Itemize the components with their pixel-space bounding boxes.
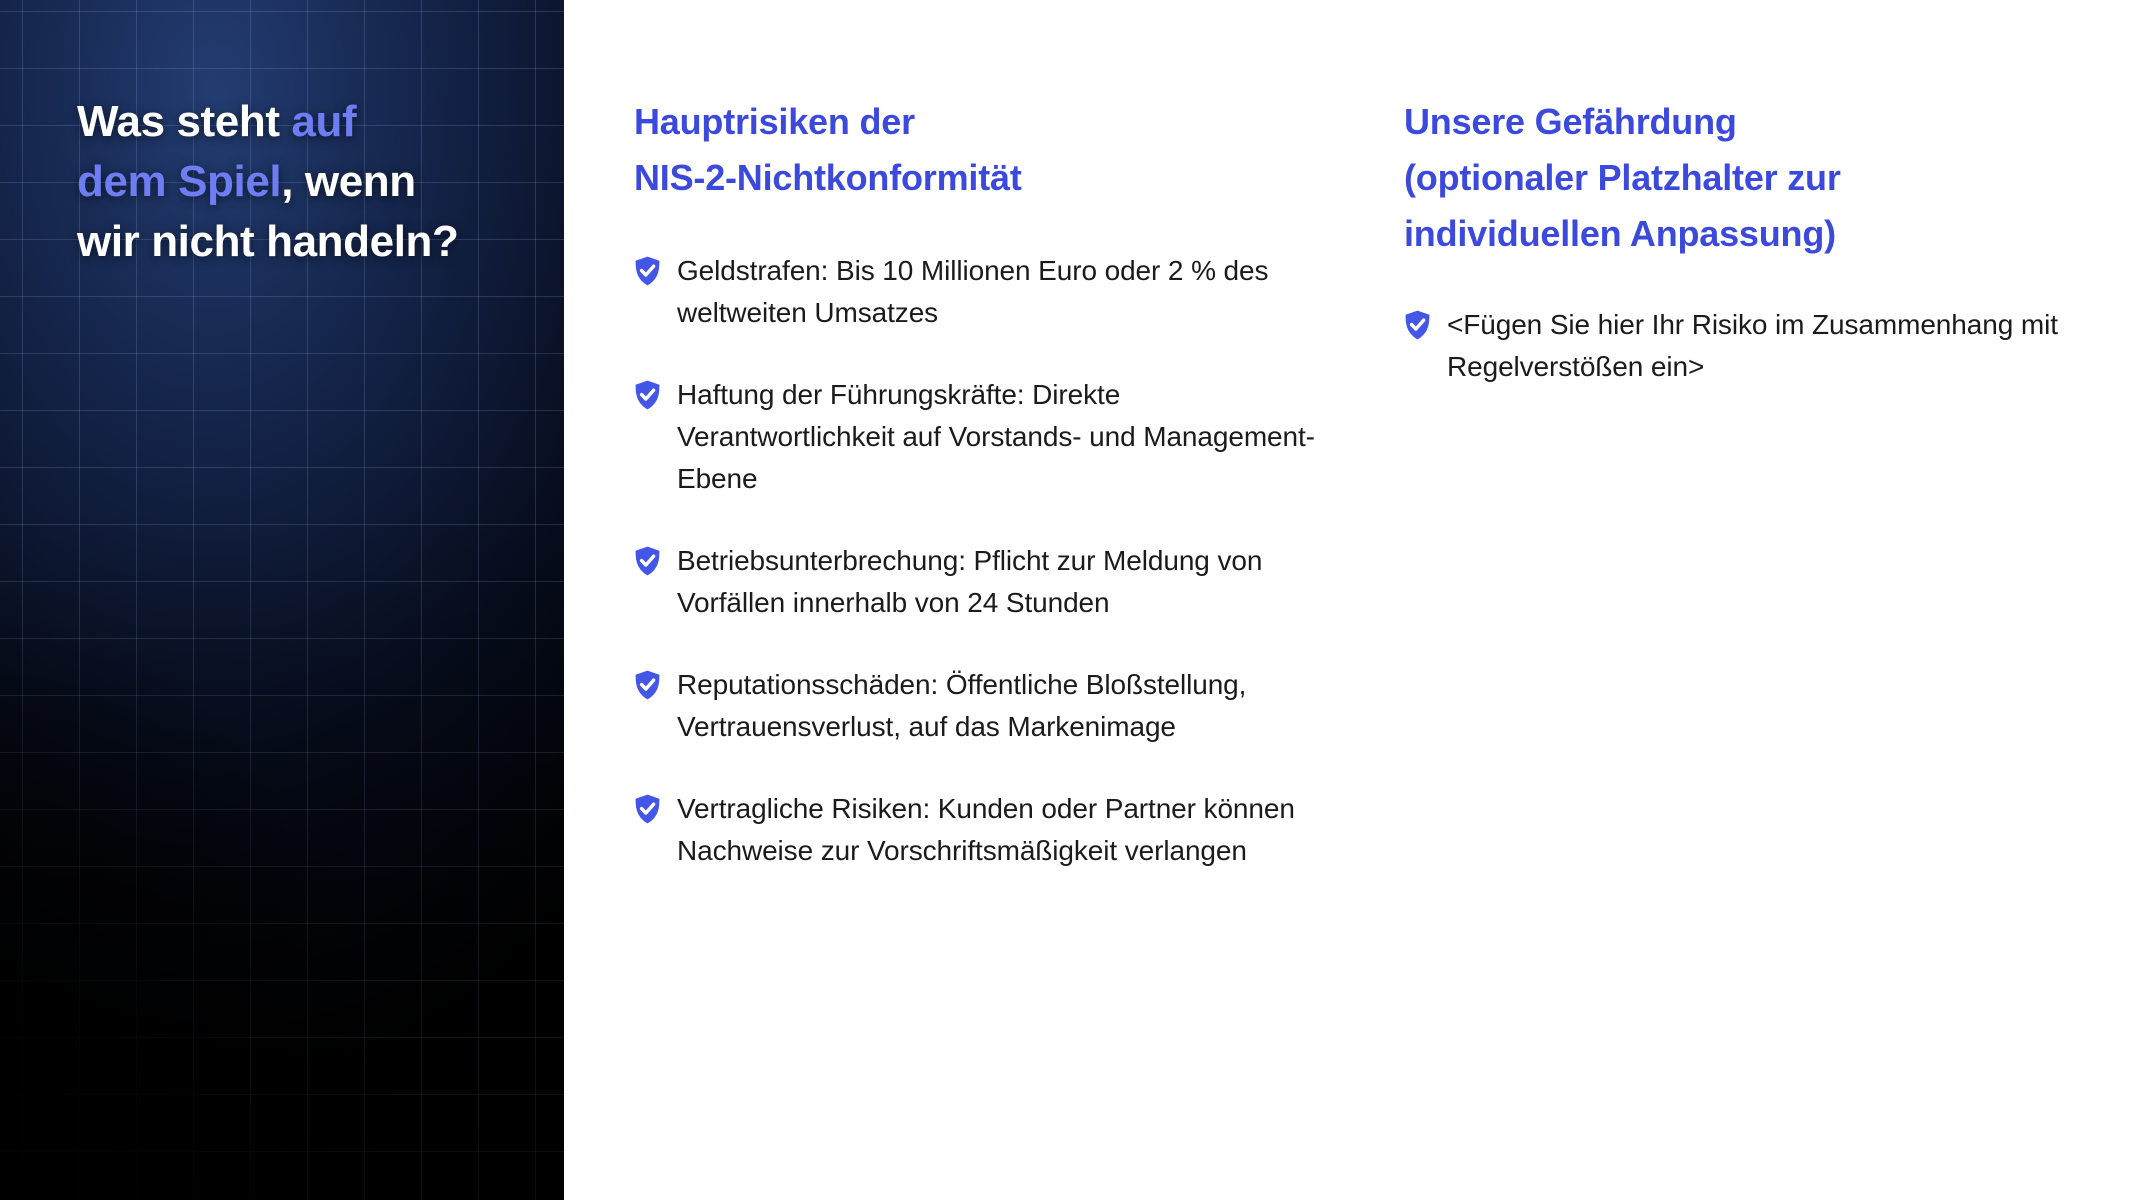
list-item-label: Haftung der Führungskräfte: Direkte Vera…	[677, 374, 1334, 500]
shield-check-icon	[634, 670, 661, 700]
risk-list: Geldstrafen: Bis 10 Millionen Euro oder …	[634, 250, 1334, 872]
exposure-list: <Fügen Sie hier Ihr Risiko im Zusammenha…	[1404, 304, 2064, 388]
list-item: Haftung der Führungskräfte: Direkte Vera…	[634, 374, 1334, 500]
column-heading-line-2: (optionaler Platzhalter zur	[1404, 157, 1841, 198]
column-main-risks: Hauptrisiken derNIS-2-Nichtkonformität G…	[634, 0, 1334, 1200]
column-heading-line-2: NIS-2-Nichtkonformität	[634, 157, 1022, 198]
list-item: Reputationsschäden: Öffentliche Bloßstel…	[634, 664, 1334, 748]
shield-check-icon	[634, 546, 661, 576]
list-item: Vertragliche Risiken: Kunden oder Partne…	[634, 788, 1334, 872]
list-item-label: Reputationsschäden: Öffentliche Bloßstel…	[677, 664, 1334, 748]
list-item: <Fügen Sie hier Ihr Risiko im Zusammenha…	[1404, 304, 2064, 388]
page-title-segment-1: Was steht	[77, 97, 291, 146]
slide: Was steht aufdem Spiel, wennwir nicht ha…	[0, 0, 2133, 1200]
page-title-highlight-2: dem Spiel	[77, 157, 281, 206]
page-title-segment-3: wir nicht handeln?	[77, 217, 458, 266]
shield-check-icon	[634, 256, 661, 286]
list-item: Geldstrafen: Bis 10 Millionen Euro oder …	[634, 250, 1334, 334]
list-item-label: Betriebsunterbrechung: Pflicht zur Meldu…	[677, 540, 1334, 624]
column-heading-line-3: individuellen Anpassung)	[1404, 213, 1836, 254]
column-heading-line-1: Hauptrisiken der	[634, 101, 915, 142]
column-heading-our-exposure: Unsere Gefährdung(optionaler Platzhalter…	[1404, 0, 2064, 262]
page-title-segment-2: , wenn	[281, 157, 416, 206]
page-title: Was steht aufdem Spiel, wennwir nicht ha…	[77, 92, 507, 272]
shield-check-icon	[634, 794, 661, 824]
list-item-label: Geldstrafen: Bis 10 Millionen Euro oder …	[677, 250, 1334, 334]
page-title-highlight-1: auf	[291, 97, 356, 146]
column-heading-line-1: Unsere Gefährdung	[1404, 101, 1737, 142]
shield-check-icon	[634, 380, 661, 410]
column-our-exposure: Unsere Gefährdung(optionaler Platzhalter…	[1404, 0, 2064, 1200]
list-item-label: Vertragliche Risiken: Kunden oder Partne…	[677, 788, 1334, 872]
column-heading-main-risks: Hauptrisiken derNIS-2-Nichtkonformität	[634, 0, 1334, 206]
list-item: Betriebsunterbrechung: Pflicht zur Meldu…	[634, 540, 1334, 624]
list-item-label: <Fügen Sie hier Ihr Risiko im Zusammenha…	[1447, 304, 2064, 388]
shield-check-icon	[1404, 310, 1431, 340]
left-title-panel: Was steht aufdem Spiel, wennwir nicht ha…	[0, 0, 564, 1200]
